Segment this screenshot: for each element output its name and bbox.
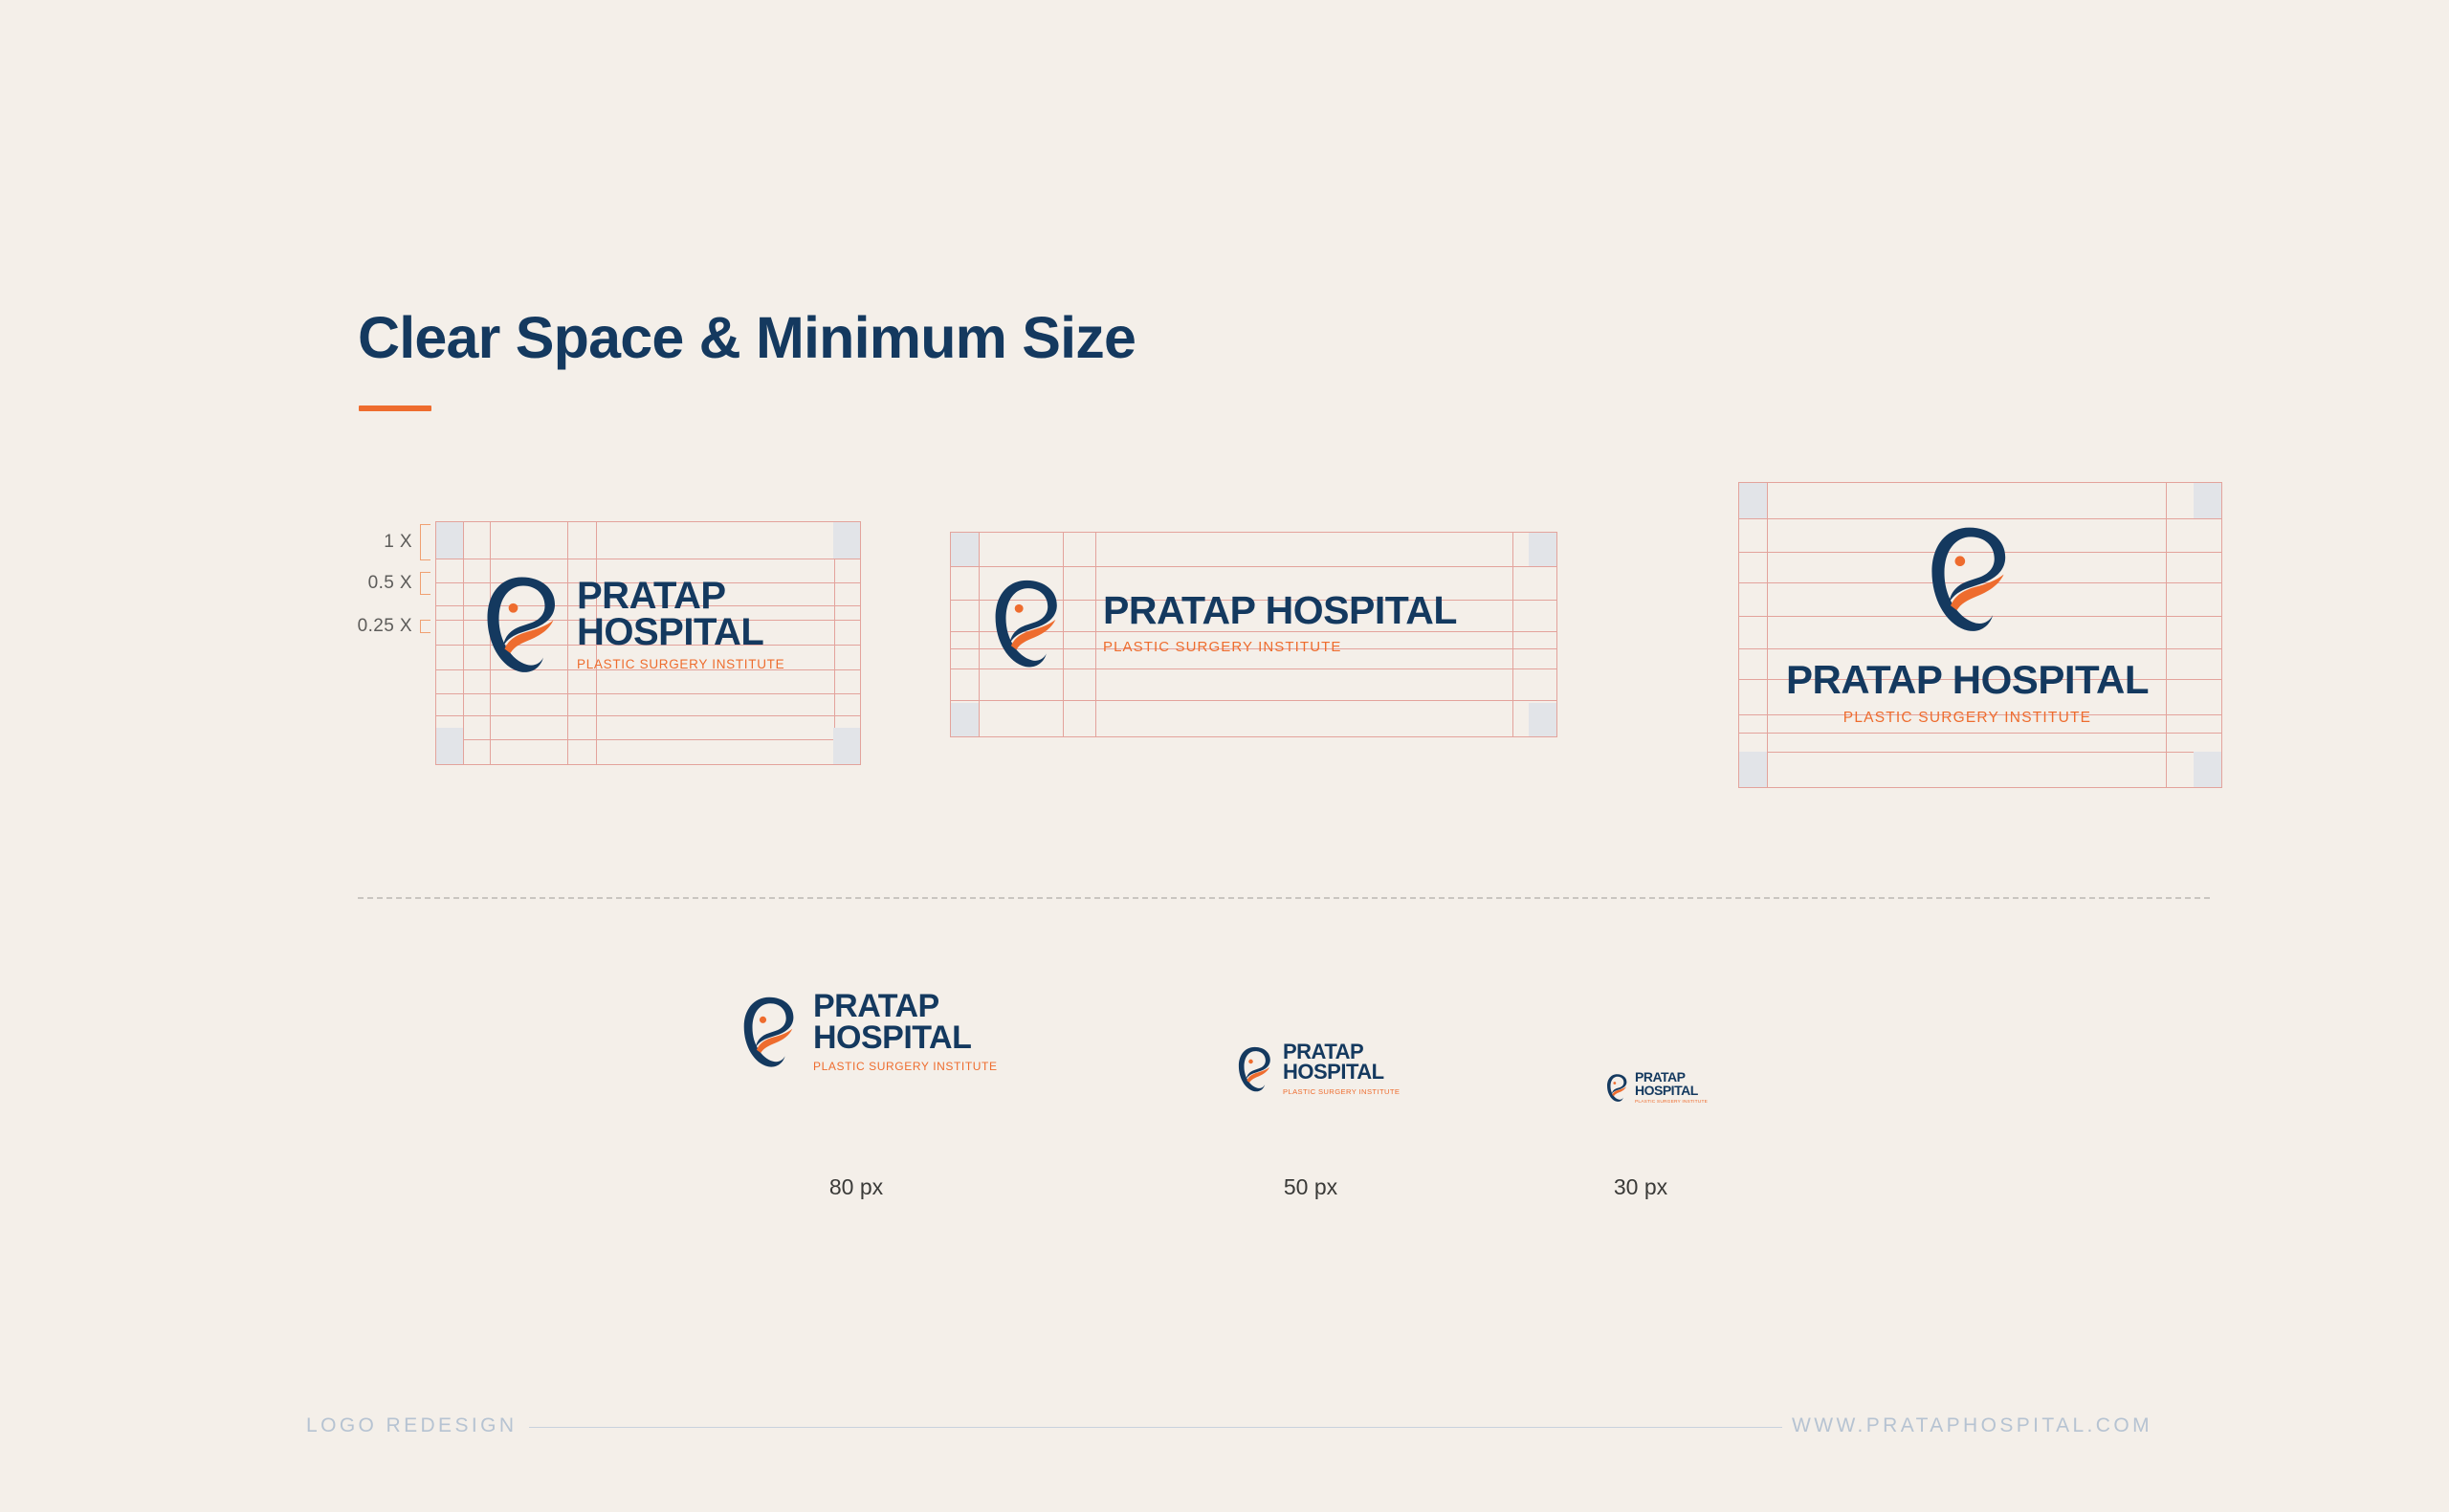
wordmark-block: PRATAP HOSPITAL PLASTIC SURGERY INSTITUT… [1635, 1071, 1708, 1105]
logo-tagline: PLASTIC SURGERY INSTITUTE [1283, 1087, 1400, 1096]
title-accent-rule [359, 405, 431, 411]
page-title: Clear Space & Minimum Size [358, 304, 1136, 371]
wordmark-line-1: PRATAP HOSPITAL [1786, 661, 2149, 699]
logo-tagline: PLASTIC SURGERY INSTITUTE [1103, 639, 1457, 655]
wordmark-line-1: PRATAP [813, 991, 998, 1021]
pratap-logo-mark [737, 990, 800, 1074]
pratap-logo-mark [1921, 516, 2015, 642]
clear-space-block [1739, 752, 1767, 787]
footer-rule [529, 1427, 1782, 1428]
grid-line-h [435, 715, 861, 716]
min-size-caption-80: 80 px [784, 1174, 928, 1200]
wordmark-block: PRATAP HOSPITAL PLASTIC SURGERY INSTITUT… [1283, 1042, 1400, 1096]
logo-tagline: PLASTIC SURGERY INSTITUTE [1635, 1100, 1708, 1105]
min-size-logo-80: PRATAP HOSPITAL PLASTIC SURGERY INSTITUT… [737, 990, 998, 1074]
wordmark-line-2: HOSPITAL [1283, 1063, 1400, 1083]
wordmark-line-1: PRATAP HOSPITAL [1103, 592, 1457, 629]
pratap-logo-mark [986, 571, 1065, 676]
clear-space-block [2194, 483, 2221, 518]
logo-tagline: PLASTIC SURGERY INSTITUTE [1843, 710, 2091, 727]
pratap-logo-mark [1234, 1042, 1274, 1096]
clear-space-block [436, 522, 463, 559]
measure-label: 1 X [384, 532, 412, 553]
measure-bracket-icon [420, 620, 430, 633]
grid-line-v [463, 521, 464, 765]
clear-space-block [951, 533, 979, 566]
logo-dot-icon [1248, 1060, 1253, 1064]
clear-space-block [833, 728, 860, 764]
wordmark-line-2: HOSPITAL [813, 1022, 998, 1053]
grid-line-h [435, 739, 861, 740]
logo-lockup: PRATAP HOSPITAL PLASTIC SURGERY INSTITUT… [986, 571, 1457, 676]
clear-space-block [436, 728, 463, 764]
min-size-logo-30: PRATAP HOSPITAL PLASTIC SURGERY INSTITUT… [1604, 1071, 1708, 1105]
footer-label-right: WWW.PRATAPHOSPITAL.COM [1792, 1414, 2152, 1437]
clear-space-block [1529, 703, 1556, 736]
clear-space-block [2194, 752, 2221, 787]
measure-05x: 0.5 X [344, 572, 430, 595]
logo-tagline: PLASTIC SURGERY INSTITUTE [577, 657, 784, 671]
clear-space-panel-stacked-right: PRATAP HOSPITAL PLASTIC SURGERY INSTITUT… [435, 521, 861, 765]
logo-lockup: PRATAP HOSPITAL PLASTIC SURGERY INSTITUT… [477, 567, 784, 682]
clear-space-block [951, 703, 979, 736]
clear-space-panel-vertical: PRATAP HOSPITAL PLASTIC SURGERY INSTITUT… [1738, 482, 2222, 788]
clear-space-block [1529, 533, 1556, 566]
measure-bracket-icon [420, 572, 430, 595]
measure-label: 0.5 X [368, 573, 412, 594]
grid-line-h [435, 559, 861, 559]
min-size-caption-30: 30 px [1569, 1174, 1712, 1200]
wordmark-block: PRATAP HOSPITAL PLASTIC SURGERY INSTITUT… [577, 578, 784, 671]
wordmark-block: PRATAP HOSPITAL PLASTIC SURGERY INSTITUT… [1786, 661, 2149, 727]
measure-1x: 1 X [344, 524, 430, 560]
min-size-caption-50: 50 px [1239, 1174, 1382, 1200]
measure-label: 0.25 X [358, 616, 412, 637]
wordmark-line-1: PRATAP [577, 578, 784, 614]
pratap-logo-mark [477, 567, 563, 682]
logo-dot-icon [1015, 604, 1024, 613]
logo-dot-icon [1613, 1082, 1616, 1085]
logo-lockup: PRATAP HOSPITAL PLASTIC SURGERY INSTITUT… [1769, 516, 2166, 727]
grid-line-h [950, 566, 1557, 567]
min-size-logo-50: PRATAP HOSPITAL PLASTIC SURGERY INSTITUT… [1234, 1042, 1400, 1096]
logo-dot-icon [509, 603, 518, 613]
grid-line-h [435, 693, 861, 694]
wordmark-block: PRATAP HOSPITAL PLASTIC SURGERY INSTITUT… [1103, 592, 1457, 655]
logo-tagline: PLASTIC SURGERY INSTITUTE [813, 1060, 998, 1073]
brand-guidelines-page: Clear Space & Minimum Size 1 X 0.5 X 0.2… [0, 0, 2449, 1512]
clear-space-block [1739, 483, 1767, 518]
grid-line-v [1512, 532, 1513, 737]
clear-space-block [833, 522, 860, 559]
grid-line-v [979, 532, 980, 737]
measure-bracket-icon [420, 524, 430, 560]
section-divider [358, 897, 2210, 899]
logo-dot-icon [760, 1017, 766, 1023]
wordmark-block: PRATAP HOSPITAL PLASTIC SURGERY INSTITUT… [813, 991, 998, 1073]
pratap-logo-mark [1604, 1071, 1629, 1105]
measure-025x: 0.25 X [344, 620, 430, 633]
grid-line-h [1738, 733, 2222, 734]
grid-line-v [2166, 482, 2167, 788]
logo-dot-icon [1954, 556, 1965, 566]
clear-space-panel-horizontal: PRATAP HOSPITAL PLASTIC SURGERY INSTITUT… [950, 532, 1557, 737]
grid-line-h [1738, 752, 2222, 753]
grid-line-h [950, 700, 1557, 701]
wordmark-line-2: HOSPITAL [1635, 1085, 1708, 1097]
footer-label-left: LOGO REDESIGN [306, 1414, 517, 1437]
wordmark-line-2: HOSPITAL [577, 614, 784, 650]
